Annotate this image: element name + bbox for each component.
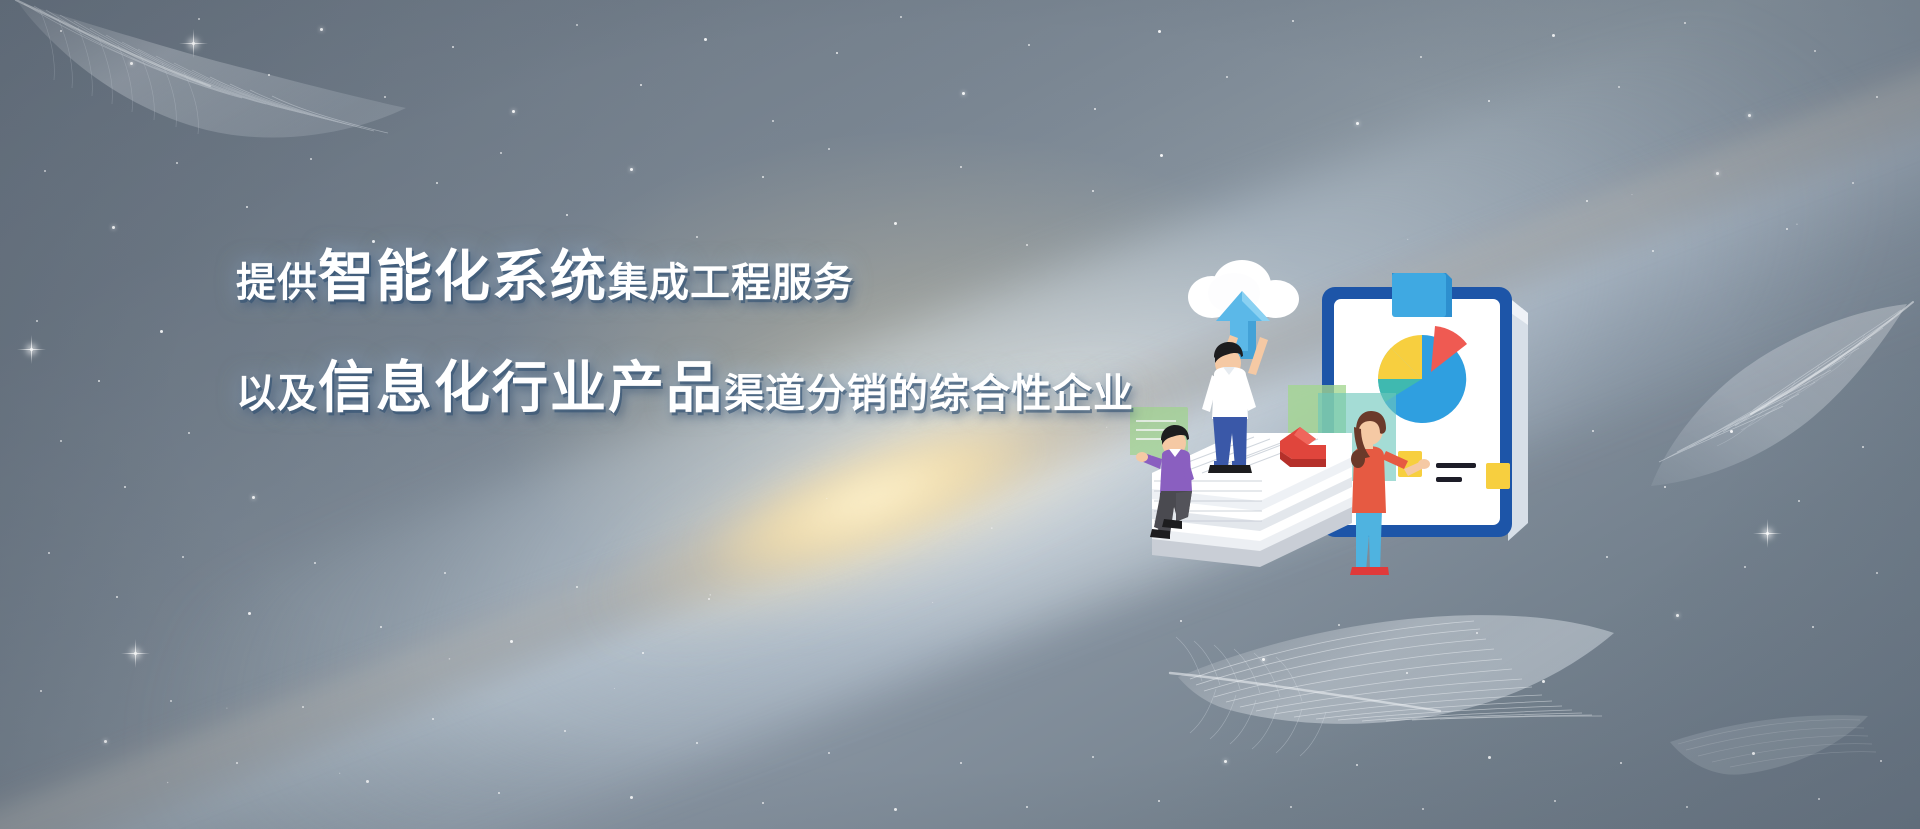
headline-line2-seg1: 以及 bbox=[236, 361, 318, 419]
sparkle-star-right bbox=[1766, 532, 1769, 535]
headline-line2-seg2: 信息化行业产品 bbox=[318, 343, 724, 424]
headline-block: 提供智能化系统集成工程服务 以及信息化行业产品渠道分销的综合性企业 bbox=[236, 232, 1236, 424]
yellow-note-right bbox=[1486, 463, 1510, 489]
headline-line-1: 提供智能化系统集成工程服务 bbox=[236, 232, 1236, 313]
hero-banner: 提供智能化系统集成工程服务 以及信息化行业产品渠道分销的综合性企业 bbox=[0, 0, 1920, 829]
headline-line1-seg3: 集成工程服务 bbox=[608, 250, 854, 308]
sparkle-star-mid-left bbox=[30, 348, 33, 351]
headline-line1-seg2: 智能化系统 bbox=[318, 232, 608, 313]
clipboard-clip bbox=[1392, 273, 1452, 317]
headline-line1-seg1: 提供 bbox=[236, 250, 318, 308]
headline-line-2: 以及信息化行业产品渠道分销的综合性企业 bbox=[236, 343, 1236, 424]
headline-line2-seg3: 渠道分销的综合性企业 bbox=[724, 361, 1134, 419]
sparkle-star-bottom-left bbox=[134, 652, 137, 655]
sparkle-star-top-left bbox=[192, 42, 195, 45]
